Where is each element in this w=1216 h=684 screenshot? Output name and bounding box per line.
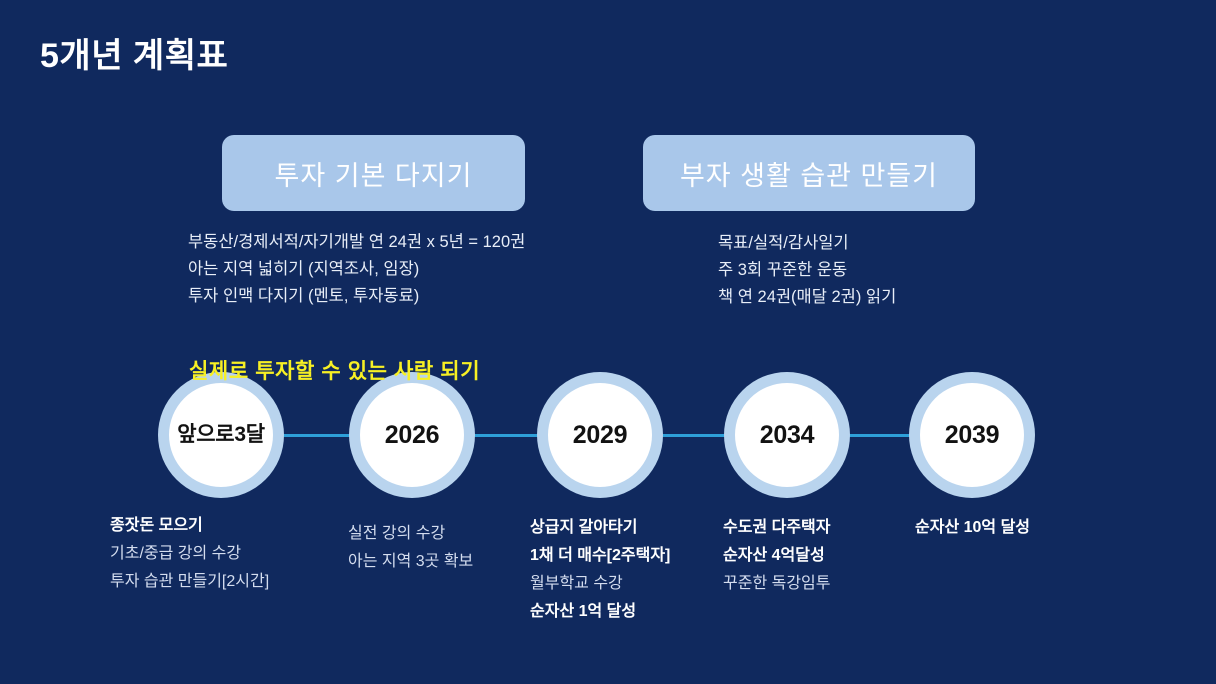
header-pill-right-label: 부자 생활 습관 만들기 <box>680 154 938 193</box>
caption-line: 순자산 4억달성 <box>723 542 938 570</box>
timeline-connector <box>278 434 355 437</box>
caption-column: 순자산 10억 달성 <box>915 514 1130 542</box>
timeline-node-label: 2034 <box>752 422 822 449</box>
page-title: 5개년 계획표 <box>40 28 228 77</box>
timeline-node-label: 2039 <box>937 422 1007 449</box>
caption-line: 꾸준한 독강임투 <box>723 570 938 598</box>
caption-line: 월부학교 수강 <box>530 570 745 598</box>
note-line: 투자 인맥 다지기 (멘토, 투자동료) <box>188 283 568 310</box>
timeline-connector <box>844 434 915 437</box>
note-line: 책 연 24권(매달 2권) 읽기 <box>718 284 1048 311</box>
caption-line: 기초/중급 강의 수강 <box>110 540 325 568</box>
note-line: 부동산/경제서적/자기개발 연 24권 x 5년 = 120권 <box>188 229 568 256</box>
caption-line: 상급지 갈아타기 <box>530 514 745 542</box>
note-line: 목표/실적/감사일기 <box>718 230 1048 257</box>
caption-line: 1채 더 매수[2주택자] <box>530 542 745 570</box>
timeline-node[interactable]: 2026 <box>349 372 475 498</box>
timeline-connector <box>469 434 543 437</box>
caption-column: 수도권 다주택자순자산 4억달성꾸준한 독강임투 <box>723 514 938 598</box>
timeline-node[interactable]: 2029 <box>537 372 663 498</box>
timeline-node-label: 2029 <box>565 422 635 449</box>
note-line: 주 3회 꾸준한 운동 <box>718 257 1048 284</box>
timeline-node-disc: 2039 <box>920 383 1024 487</box>
timeline-node[interactable]: 앞으로3달 <box>158 372 284 498</box>
header-pill-investment-basics: 투자 기본 다지기 <box>222 135 525 211</box>
timeline-node-disc: 2026 <box>360 383 464 487</box>
caption-column: 상급지 갈아타기1채 더 매수[2주택자]월부학교 수강순자산 1억 달성 <box>530 514 745 626</box>
caption-line: 순자산 1억 달성 <box>530 598 745 626</box>
note-line: 아는 지역 넓히기 (지역조사, 임장) <box>188 256 568 283</box>
caption-column: 종잣돈 모으기기초/중급 강의 수강투자 습관 만들기[2시간] <box>110 512 325 596</box>
timeline-node-disc: 2029 <box>548 383 652 487</box>
timeline-connector <box>657 434 730 437</box>
timeline-node-label: 2026 <box>377 422 447 449</box>
timeline-node[interactable]: 2034 <box>724 372 850 498</box>
caption-line: 종잣돈 모으기 <box>110 512 325 540</box>
highlight-caption: 실제로 투자할 수 있는 사람 되기 <box>189 355 480 385</box>
timeline-node-label: 앞으로3달 <box>169 422 272 448</box>
timeline-node-disc: 앞으로3달 <box>169 383 273 487</box>
note-block-left: 부동산/경제서적/자기개발 연 24권 x 5년 = 120권 아는 지역 넓히… <box>188 229 568 310</box>
header-pill-rich-habits: 부자 생활 습관 만들기 <box>643 135 975 211</box>
caption-line: 순자산 10억 달성 <box>915 514 1130 542</box>
slide-canvas: 5개년 계획표 투자 기본 다지기 부자 생활 습관 만들기 부동산/경제서적/… <box>0 0 1216 684</box>
caption-line: 투자 습관 만들기[2시간] <box>110 568 325 596</box>
caption-line: 수도권 다주택자 <box>723 514 938 542</box>
timeline-node-disc: 2034 <box>735 383 839 487</box>
header-pill-left-label: 투자 기본 다지기 <box>275 154 473 193</box>
timeline-node[interactable]: 2039 <box>909 372 1035 498</box>
note-block-right: 목표/실적/감사일기 주 3회 꾸준한 운동 책 연 24권(매달 2권) 읽기 <box>718 230 1048 311</box>
